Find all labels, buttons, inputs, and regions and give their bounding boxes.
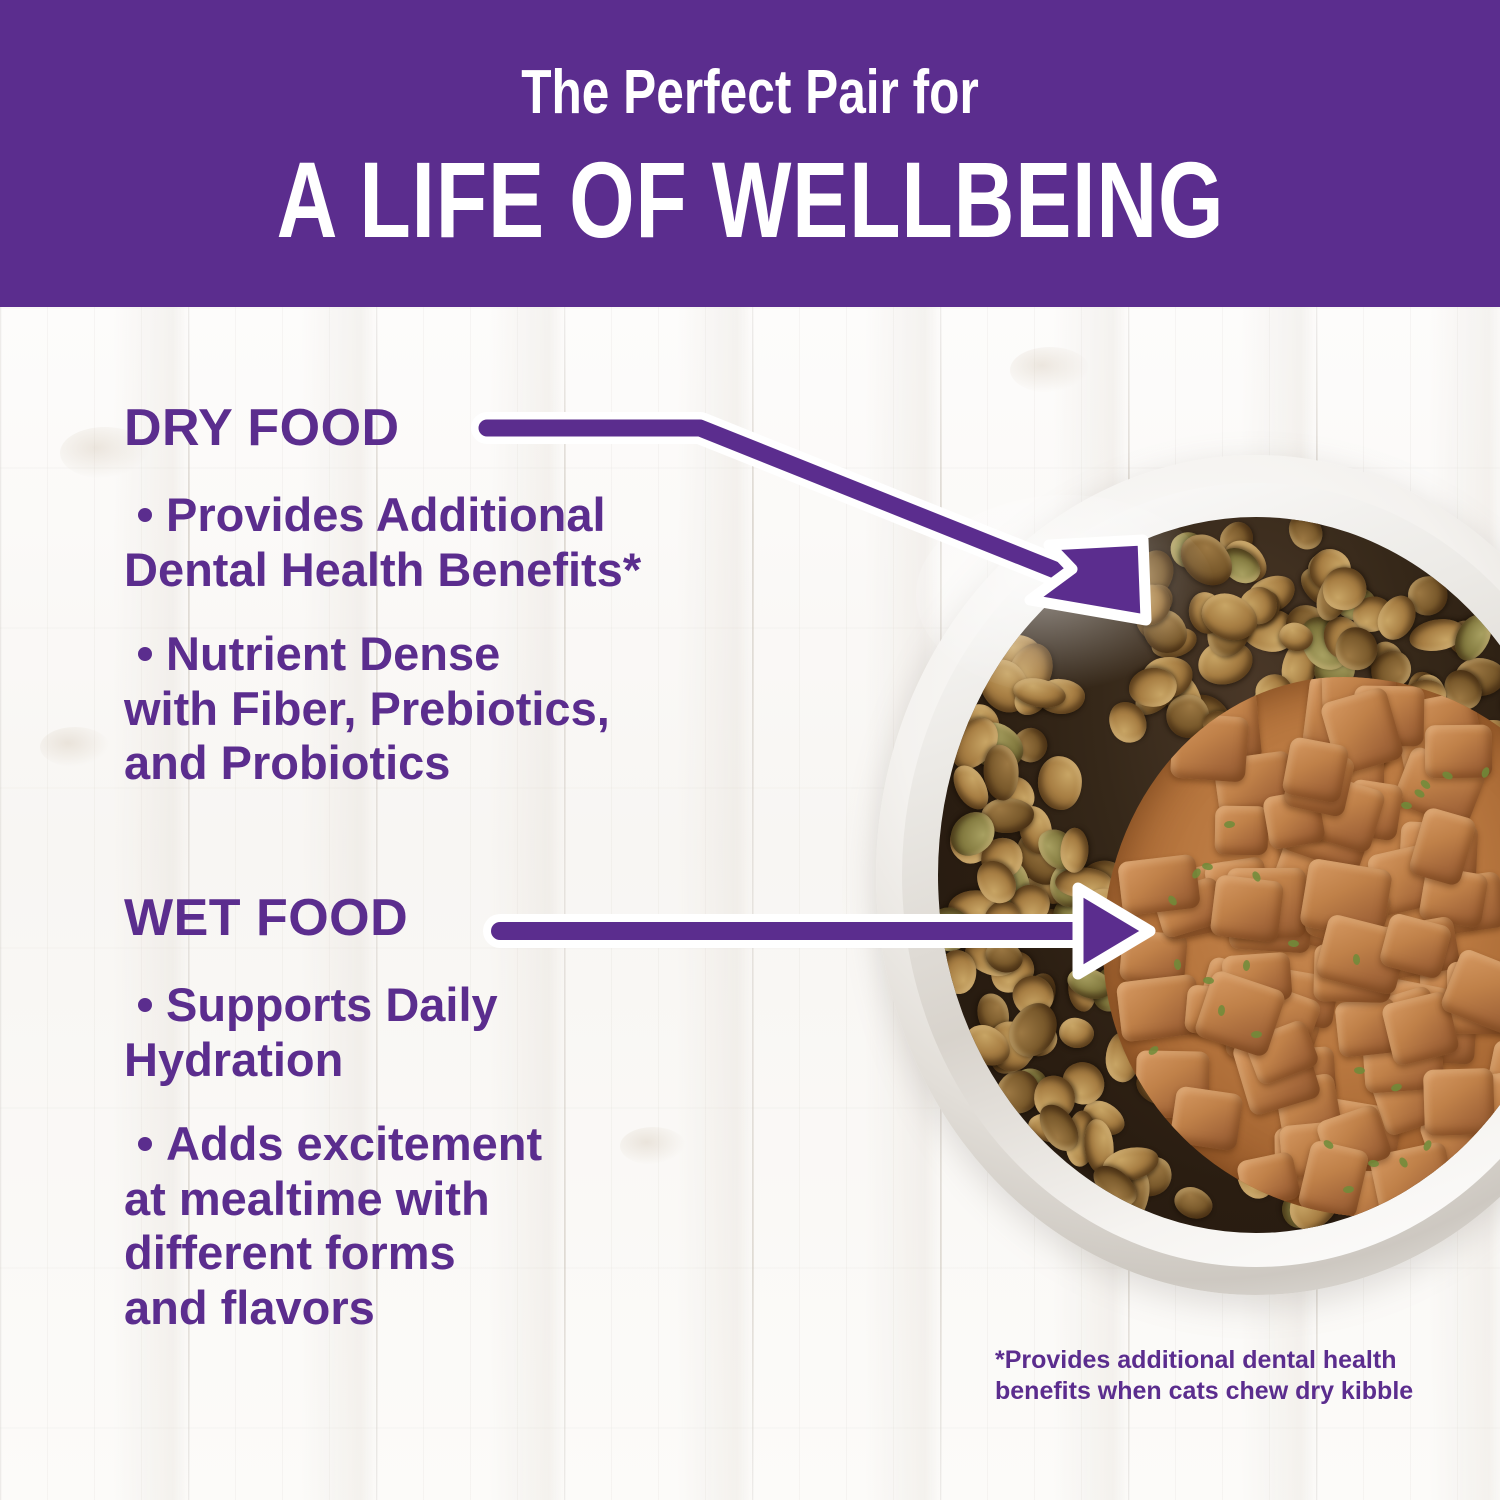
bullet-text-line: different forms — [124, 1226, 456, 1279]
list-item: Adds excitement at mealtime with differe… — [124, 1117, 684, 1335]
footnote-disclaimer: *Provides additional dental health benef… — [995, 1345, 1415, 1407]
list-item: Supports Daily Hydration — [124, 978, 684, 1087]
pet-food-bowl-image — [876, 455, 1500, 1295]
bullet-text-line: Supports Daily — [166, 978, 498, 1031]
header-subtitle: The Perfect Pair for — [521, 62, 979, 124]
bullet-text-line: Nutrient Dense — [166, 627, 500, 680]
bullet-dot-icon — [138, 1137, 152, 1151]
bullet-text-line: and flavors — [124, 1281, 375, 1334]
bullet-text-line: and Probiotics — [124, 736, 450, 789]
bullet-dot-icon — [138, 508, 152, 522]
bowl-interior — [938, 517, 1500, 1233]
footnote-line-1: *Provides additional dental health — [995, 1346, 1396, 1374]
bullet-text-line: Hydration — [124, 1033, 343, 1086]
list-item: Provides Additional Dental Health Benefi… — [124, 488, 784, 597]
bullet-text-line: at mealtime with — [124, 1172, 490, 1225]
bullet-text-line: Provides Additional — [166, 488, 606, 541]
wet-food-bullet-list: Supports Daily Hydration Adds excitement… — [124, 978, 684, 1365]
list-item: Nutrient Dense with Fiber, Prebiotics, a… — [124, 627, 784, 791]
footnote-line-2: benefits when cats chew dry kibble — [995, 1377, 1413, 1405]
section-title-wet-food: WET FOOD — [124, 892, 408, 944]
promo-graphic: The Perfect Pair for A LIFE OF WELLBEING… — [0, 0, 1500, 1500]
section-title-dry-food: DRY FOOD — [124, 402, 400, 454]
bullet-dot-icon — [138, 647, 152, 661]
bullet-text-line: with Fiber, Prebiotics, — [124, 682, 610, 735]
dry-food-bullet-list: Provides Additional Dental Health Benefi… — [124, 488, 784, 821]
bullet-dot-icon — [138, 998, 152, 1012]
bullet-text-line: Adds excitement — [166, 1117, 542, 1170]
bullet-text-line: Dental Health Benefits* — [124, 543, 641, 596]
header-title: A LIFE OF WELLBEING — [276, 146, 1224, 254]
header-banner: The Perfect Pair for A LIFE OF WELLBEING — [0, 0, 1500, 307]
